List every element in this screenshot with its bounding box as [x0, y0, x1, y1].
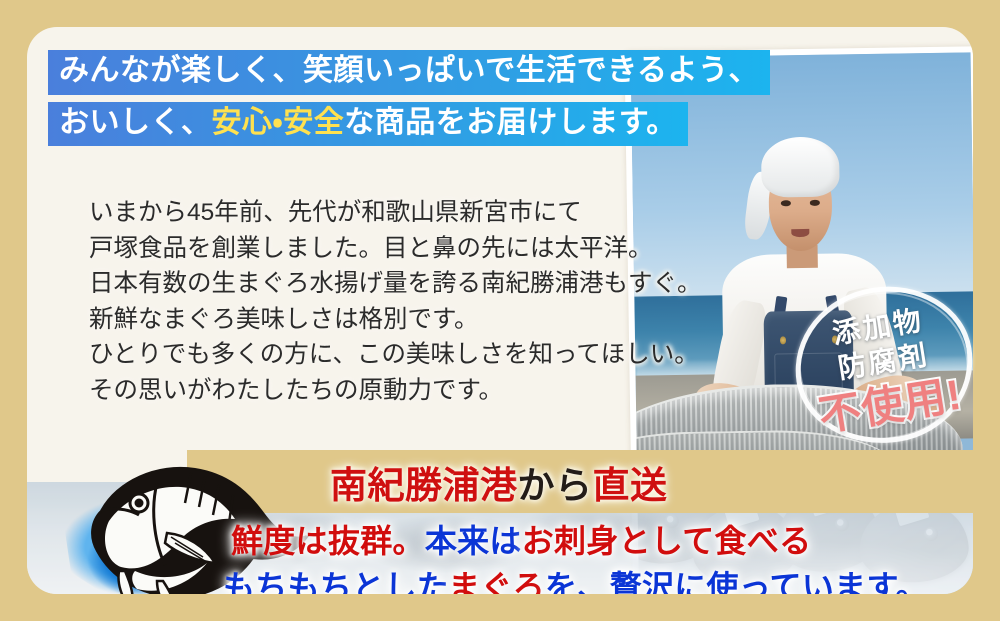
freshness-part-2: 本来は — [425, 523, 522, 559]
headline: みんなが楽しく、笑顔いっぱいで生活できるよう、 おいしく、安心・安全な商品をお届… — [48, 50, 708, 146]
direct-word: 直送 — [593, 465, 668, 506]
headline-line-2-accent: 安心・安全 — [212, 106, 345, 139]
texture-part-1: もちもちとした — [223, 569, 448, 594]
headline-line-1: みんなが楽しく、笑顔いっぱいで生活できるよう、 — [59, 54, 759, 87]
photo-person-headband — [761, 137, 840, 198]
body-line: いまから45年前、先代が和歌山県新宮市にて — [89, 195, 674, 231]
freshness-part-3: お刺身として食べる — [522, 523, 812, 559]
texture-part-2: まぐろ — [448, 569, 545, 594]
photo-apron-button-left — [779, 336, 785, 343]
body-paragraph: いまから45年前、先代が和歌山県新宮市にて 戸塚食品を創業しました。目と鼻の先に… — [89, 195, 674, 408]
body-line: 戸塚食品を創業しました。目と鼻の先には太平洋。 — [89, 231, 674, 267]
headline-line-2-part-b: な商品をお届けします。 — [344, 106, 677, 139]
body-line: 新鮮なまぐろ美味しさは格別です。 — [89, 302, 674, 338]
no-additives-badge: 添加物 防腐剤 不使用! — [784, 274, 984, 456]
headline-bar-2: おいしく、安心・安全な商品をお届けします。 — [48, 102, 688, 147]
headline-bar-1: みんなが楽しく、笑顔いっぱいで生活できるよう、 — [48, 50, 770, 95]
body-line: ひとりでも多くの方に、この美味しさを知ってほしい。 — [89, 337, 674, 373]
headline-line-2-part-a: おいしく、 — [59, 106, 212, 139]
freshness-line: 鮮度は抜群。本来はお刺身として食べる — [231, 516, 811, 562]
direct-shipping-line: 南紀勝浦港から直送 — [330, 455, 668, 509]
direct-particle: から — [518, 465, 593, 506]
direct-port-name: 南紀勝浦港 — [330, 465, 518, 506]
poster-root: みんなが楽しく、笑顔いっぱいで生活できるよう、 おいしく、安心・安全な商品をお届… — [0, 0, 1000, 621]
texture-line: もちもちとしたまぐろを、贅沢に使っています。 — [223, 562, 928, 594]
freshness-part-1: 鮮度は抜群。 — [231, 523, 425, 559]
body-line: その思いがわたしたちの原動力です。 — [89, 373, 674, 409]
texture-part-3: を、贅沢に使っています。 — [545, 569, 928, 594]
body-line: 日本有数の生まぐろ水揚げ量を誇る南紀勝浦港もすぐ。 — [89, 266, 674, 302]
